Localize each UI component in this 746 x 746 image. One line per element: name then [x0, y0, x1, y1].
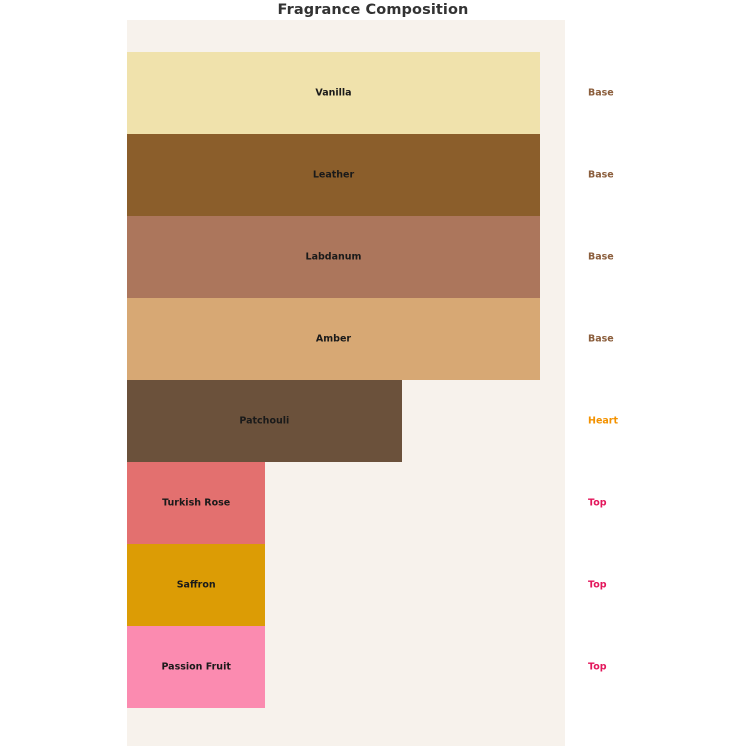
fragrance-composition-chart: Fragrance Composition VanillaLeatherLabd…	[0, 0, 746, 746]
note-category-label: Top	[588, 498, 607, 509]
bar-leather[interactable]: Leather	[127, 134, 540, 216]
bar-patchouli[interactable]: Patchouli	[127, 380, 402, 462]
bar-turkish-rose[interactable]: Turkish Rose	[127, 462, 265, 544]
note-category-label: Base	[588, 334, 614, 345]
note-category-label: Base	[588, 170, 614, 181]
bar-label: Vanilla	[127, 88, 540, 99]
bar-amber[interactable]: Amber	[127, 298, 540, 380]
note-category-label: Heart	[588, 416, 618, 427]
bar-label: Leather	[127, 170, 540, 181]
note-category-label: Base	[588, 88, 614, 99]
bar-vanilla[interactable]: Vanilla	[127, 52, 540, 134]
bar-label: Patchouli	[127, 416, 402, 427]
bar-saffron[interactable]: Saffron	[127, 544, 265, 626]
chart-title: Fragrance Composition	[0, 2, 746, 18]
note-category-label: Top	[588, 662, 607, 673]
bar-label: Amber	[127, 334, 540, 345]
note-category-label: Base	[588, 252, 614, 263]
bar-label: Labdanum	[127, 252, 540, 263]
note-category-label: Top	[588, 580, 607, 591]
bar-label: Saffron	[127, 580, 265, 591]
bar-label: Passion Fruit	[127, 662, 265, 673]
bar-passion-fruit[interactable]: Passion Fruit	[127, 626, 265, 708]
bar-label: Turkish Rose	[127, 498, 265, 509]
bar-labdanum[interactable]: Labdanum	[127, 216, 540, 298]
